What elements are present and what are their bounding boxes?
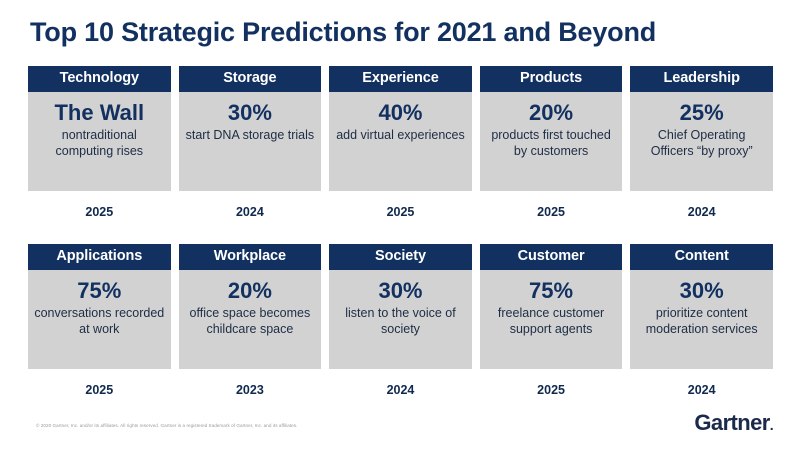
card-description: office space becomes childcare space bbox=[185, 305, 316, 337]
card-category-header: Experience bbox=[329, 66, 472, 92]
card-category-header: Leadership bbox=[630, 66, 773, 92]
card-category-header: Content bbox=[630, 244, 773, 270]
card-body: 20% products first touched by customers bbox=[480, 92, 623, 191]
card-year: 2025 bbox=[28, 205, 171, 219]
card-stat: 25% bbox=[680, 101, 724, 126]
card-category-header: Workplace bbox=[179, 244, 322, 270]
card-year: 2025 bbox=[329, 205, 472, 219]
card-year: 2025 bbox=[28, 383, 171, 397]
card-category-header: Society bbox=[329, 244, 472, 270]
card-description: nontraditional computing rises bbox=[34, 127, 165, 159]
card-description: Chief Operating Officers “by proxy” bbox=[636, 127, 767, 159]
card-description: prioritize content moderation services bbox=[636, 305, 767, 337]
card-category-header: Products bbox=[480, 66, 623, 92]
card-year: 2024 bbox=[329, 383, 472, 397]
prediction-card[interactable]: Technology The Wall nontraditional compu… bbox=[28, 66, 171, 219]
card-year: 2024 bbox=[179, 205, 322, 219]
prediction-card[interactable]: Products 20% products first touched by c… bbox=[480, 66, 623, 219]
card-category-header: Technology bbox=[28, 66, 171, 92]
prediction-card[interactable]: Content 30% prioritize content moderatio… bbox=[630, 244, 773, 397]
card-body: 20% office space becomes childcare space bbox=[179, 270, 322, 369]
card-stat: 30% bbox=[378, 279, 422, 304]
card-year: 2025 bbox=[480, 383, 623, 397]
card-body: 30% prioritize content moderation servic… bbox=[630, 270, 773, 369]
card-year: 2024 bbox=[630, 205, 773, 219]
card-description: freelance customer support agents bbox=[486, 305, 617, 337]
card-stat: 30% bbox=[680, 279, 724, 304]
prediction-card[interactable]: Customer 75% freelance customer support … bbox=[480, 244, 623, 397]
card-body: 30% start DNA storage trials bbox=[179, 92, 322, 191]
card-description: conversations recorded at work bbox=[34, 305, 165, 337]
copyright-notice: © 2020 Gartner, Inc. and/or its affiliat… bbox=[36, 423, 297, 428]
card-description: start DNA storage trials bbox=[186, 127, 315, 143]
gartner-logo-text: Gartner bbox=[694, 410, 769, 435]
card-category-header: Storage bbox=[179, 66, 322, 92]
card-stat: 30% bbox=[228, 101, 272, 126]
card-stat: 40% bbox=[378, 101, 422, 126]
card-stat: 75% bbox=[77, 279, 121, 304]
page-title: Top 10 Strategic Predictions for 2021 an… bbox=[30, 17, 656, 48]
gartner-logo-dot: . bbox=[770, 417, 773, 433]
card-body: 25% Chief Operating Officers “by proxy” bbox=[630, 92, 773, 191]
card-year: 2024 bbox=[630, 383, 773, 397]
card-body: 75% conversations recorded at work bbox=[28, 270, 171, 369]
prediction-card[interactable]: Society 30% listen to the voice of socie… bbox=[329, 244, 472, 397]
prediction-row-2: Applications 75% conversations recorded … bbox=[28, 244, 773, 397]
card-body: 40% add virtual experiences bbox=[329, 92, 472, 191]
card-stat: 20% bbox=[228, 279, 272, 304]
card-stat: 75% bbox=[529, 279, 573, 304]
card-body: The Wall nontraditional computing rises bbox=[28, 92, 171, 191]
card-description: add virtual experiences bbox=[336, 127, 465, 143]
prediction-row-1: Technology The Wall nontraditional compu… bbox=[28, 66, 773, 219]
prediction-card[interactable]: Experience 40% add virtual experiences 2… bbox=[329, 66, 472, 219]
card-year: 2023 bbox=[179, 383, 322, 397]
card-description: products first touched by customers bbox=[486, 127, 617, 159]
card-category-header: Customer bbox=[480, 244, 623, 270]
card-year: 2025 bbox=[480, 205, 623, 219]
prediction-card[interactable]: Leadership 25% Chief Operating Officers … bbox=[630, 66, 773, 219]
slide-canvas: Top 10 Strategic Predictions for 2021 an… bbox=[0, 0, 800, 449]
card-body: 30% listen to the voice of society bbox=[329, 270, 472, 369]
prediction-card[interactable]: Storage 30% start DNA storage trials 202… bbox=[179, 66, 322, 219]
card-stat: The Wall bbox=[54, 101, 144, 126]
gartner-logo: Gartner. bbox=[694, 410, 773, 436]
card-stat: 20% bbox=[529, 101, 573, 126]
prediction-card[interactable]: Workplace 20% office space becomes child… bbox=[179, 244, 322, 397]
card-description: listen to the voice of society bbox=[335, 305, 466, 337]
card-category-header: Applications bbox=[28, 244, 171, 270]
card-body: 75% freelance customer support agents bbox=[480, 270, 623, 369]
prediction-card[interactable]: Applications 75% conversations recorded … bbox=[28, 244, 171, 397]
